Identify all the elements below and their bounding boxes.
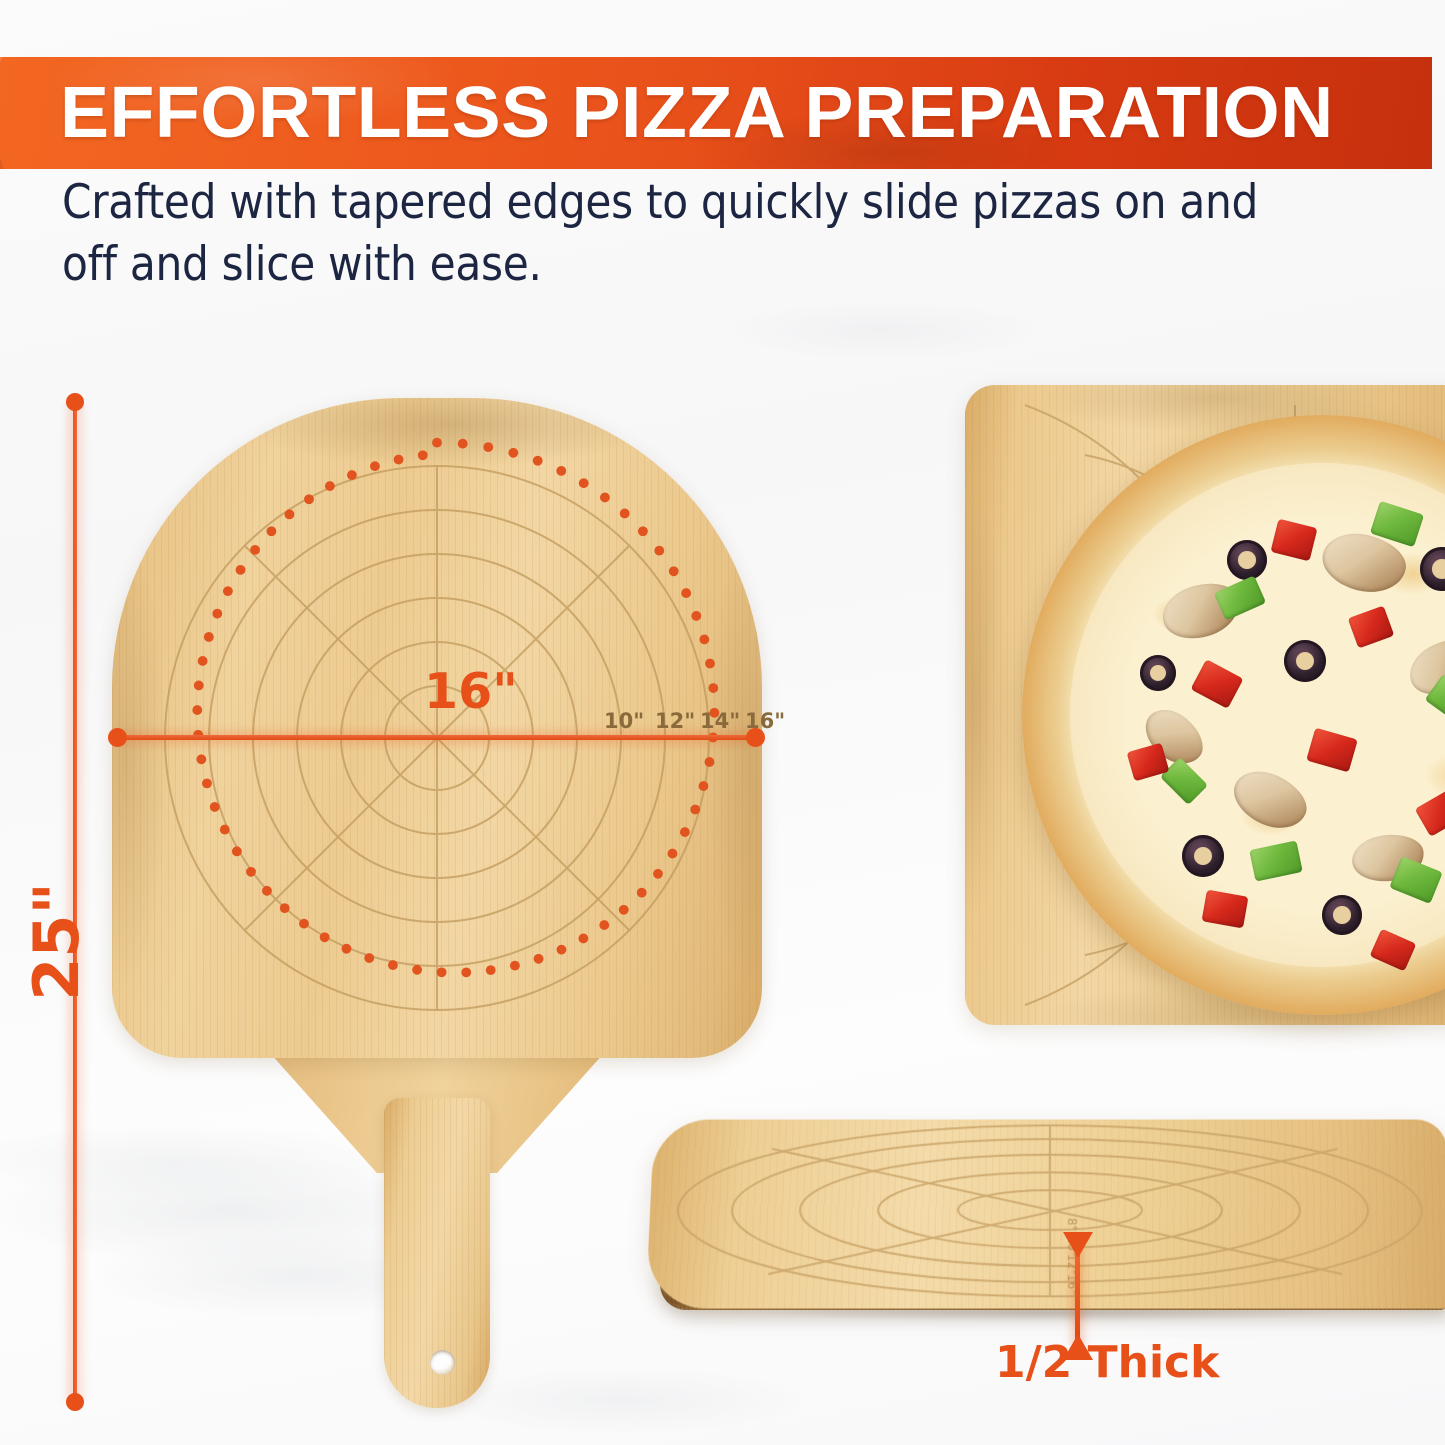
topping-olive bbox=[1140, 655, 1176, 691]
ruler-mark-10: 10" bbox=[604, 709, 644, 733]
ruler-mark-16: 16" bbox=[745, 709, 785, 733]
topping-olive bbox=[1284, 640, 1326, 682]
ruler-mark-14: 14" bbox=[700, 709, 740, 733]
board-bottom-engraving: 8" 10" 12" 16" bbox=[646, 1120, 1445, 1309]
ruler-mark-12: 12" bbox=[655, 709, 695, 733]
diameter-dimension-label: 16" bbox=[424, 663, 518, 720]
topping-olive bbox=[1322, 895, 1362, 935]
diameter-dimension-line bbox=[117, 735, 756, 740]
product-infographic: EFFORTLESS PIZZA PREPARATION Crafted wit… bbox=[0, 0, 1445, 1445]
thickness-arrow-line bbox=[1075, 1246, 1080, 1346]
pizza-board-thickness-view: 8" 10" 12" 16" bbox=[646, 1120, 1445, 1309]
arrow-down-icon bbox=[1063, 1232, 1093, 1258]
svg-text:8": 8" bbox=[1065, 1218, 1079, 1231]
page-title: EFFORTLESS PIZZA PREPARATION bbox=[60, 77, 1334, 149]
thickness-label: 1/2 Thick bbox=[995, 1337, 1219, 1388]
topping-olive bbox=[1182, 835, 1224, 877]
topping-olive bbox=[1227, 540, 1267, 580]
handle-hang-hole bbox=[430, 1350, 455, 1375]
height-dimension-label: 25" bbox=[20, 882, 93, 1001]
header-subtitle: Crafted with tapered edges to quickly sl… bbox=[62, 172, 1322, 296]
peel-handle bbox=[384, 1098, 490, 1408]
header-banner: EFFORTLESS PIZZA PREPARATION bbox=[0, 57, 1432, 169]
